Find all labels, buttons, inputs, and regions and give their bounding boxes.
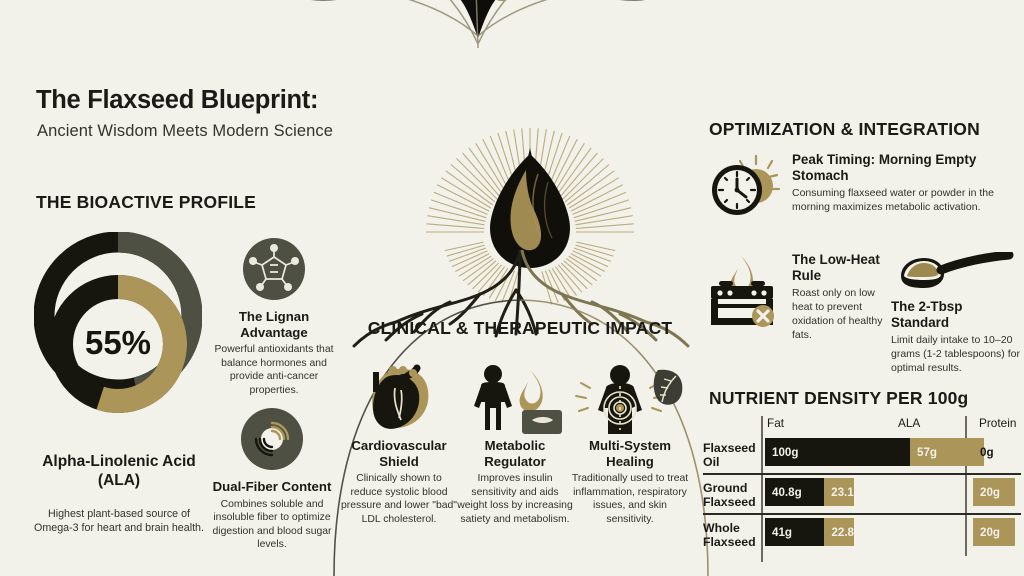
donut-title: Alpha-Linolenic Acid (ALA)	[30, 453, 208, 490]
flax-plant-illustration	[238, 0, 718, 138]
tip-description: Roast only on low heat to prevent oxidat…	[792, 287, 887, 343]
flame-icon	[520, 370, 543, 411]
table-row: Whole Flaxseed41g22.8g20g	[703, 518, 1021, 554]
tip-two-tbsp-standard: The 2-Tbsp Standard Limit daily intake t…	[891, 252, 1021, 376]
row-label: Flaxseed Oil	[703, 441, 761, 470]
scale-icon	[522, 410, 562, 434]
tip-title: Peak Timing: Morning Empty Stomach	[792, 152, 1019, 184]
page-subtitle: Ancient Wisdom Meets Modern Science	[37, 122, 333, 141]
no-symbol-icon	[752, 305, 774, 327]
molecule-icon	[243, 238, 305, 300]
person-icon	[474, 365, 512, 430]
section-heading-nutrient-density: NUTRIENT DENSITY PER 100g	[709, 388, 968, 409]
bar-protein: 20g	[973, 518, 1015, 546]
card-description: Clinically shown to reduce systolic bloo…	[340, 472, 458, 526]
bar-ala: 23.1g	[824, 478, 854, 506]
fiber-spiral-icon	[241, 408, 303, 470]
table-row: Ground Flaxseed40.8g23.1g20g	[703, 478, 1021, 514]
card-title: Dual-Fiber Content	[206, 479, 338, 495]
section-heading-optimization: OPTIMIZATION & INTEGRATION	[709, 119, 980, 140]
tip-peak-timing: Peak Timing: Morning Empty Stomach Consu…	[709, 152, 1019, 227]
tip-low-heat-rule: The Low-Heat Rule Roast only on low heat…	[707, 252, 887, 343]
table-row: Flaxseed Oil100g57g0g	[703, 438, 1021, 474]
card-description: Improves insulin sensitivity and aids we…	[456, 472, 574, 526]
column-header-ala: ALA	[898, 416, 958, 438]
column-header-protein: Protein	[979, 416, 1024, 438]
section-heading-bioactive: THE BIOACTIVE PROFILE	[36, 192, 256, 213]
leaf-icon	[654, 370, 683, 405]
card-metabolic-regulator: Metabolic Regulator Improves insulin sen…	[456, 362, 574, 526]
body-healing-leaf-icon	[571, 362, 689, 434]
clock-sun-icon	[709, 152, 783, 227]
table-row-separator	[703, 513, 1021, 515]
bar-protein: 20g	[973, 478, 1015, 506]
row-label: Whole Flaxseed	[703, 521, 761, 550]
table-row-separator	[703, 473, 1021, 475]
card-dual-fiber-content: Dual-Fiber Content Combines soluble and …	[206, 408, 338, 552]
bar-fat: 40.8g	[765, 478, 824, 506]
card-cardiovascular-shield: Cardiovascular Shield Clinically shown t…	[340, 362, 458, 526]
card-description: Powerful antioxidants that balance hormo…	[208, 343, 340, 397]
heart-icon	[340, 362, 458, 434]
bar-fat: 41g	[765, 518, 824, 546]
tip-description: Limit daily intake to 10–20 grams (1-2 t…	[891, 334, 1021, 376]
card-title: Metabolic Regulator	[456, 438, 574, 469]
card-multi-system-healing: Multi-System Healing Traditionally used …	[571, 362, 689, 526]
card-title: Multi-System Healing	[571, 438, 689, 469]
card-description: Traditionally used to treat inflammation…	[571, 472, 689, 526]
bar-protein: 0g	[973, 438, 1003, 466]
card-description: Combines soluble and insoluble fiber to …	[206, 498, 338, 552]
donut-description: Highest plant-based source of Omega-3 fo…	[28, 508, 210, 536]
bar-fat: 100g	[765, 438, 910, 466]
page-title: The Flaxseed Blueprint:	[36, 86, 318, 115]
column-header-fat: Fat	[767, 416, 847, 438]
tip-title: The Low-Heat Rule	[792, 252, 887, 284]
person-scale-flame-icon	[456, 362, 574, 434]
card-lignan-advantage: The Lignan Advantage Powerful antioxidan…	[208, 238, 340, 397]
ala-donut-chart: 55%	[34, 232, 202, 428]
card-title: Cardiovascular Shield	[340, 438, 458, 469]
tip-title: The 2-Tbsp Standard	[891, 299, 1021, 331]
stove-flame-no-icon	[707, 252, 783, 333]
tip-description: Consuming flaxseed water or powder in th…	[792, 187, 1019, 215]
nutrient-density-table: FatALAProteinFlaxseed Oil100g57g0gGround…	[703, 416, 1021, 562]
bar-ala: 22.8g	[824, 518, 854, 546]
row-label: Ground Flaxseed	[703, 481, 761, 510]
infographic-canvas: The Flaxseed Blueprint: Ancient Wisdom M…	[0, 0, 1024, 576]
spoon-icon	[891, 252, 1021, 294]
card-title: The Lignan Advantage	[208, 309, 340, 340]
section-heading-clinical: CLINICAL & THERAPEUTIC IMPACT	[360, 318, 680, 339]
donut-value-label: 55%	[85, 324, 151, 361]
